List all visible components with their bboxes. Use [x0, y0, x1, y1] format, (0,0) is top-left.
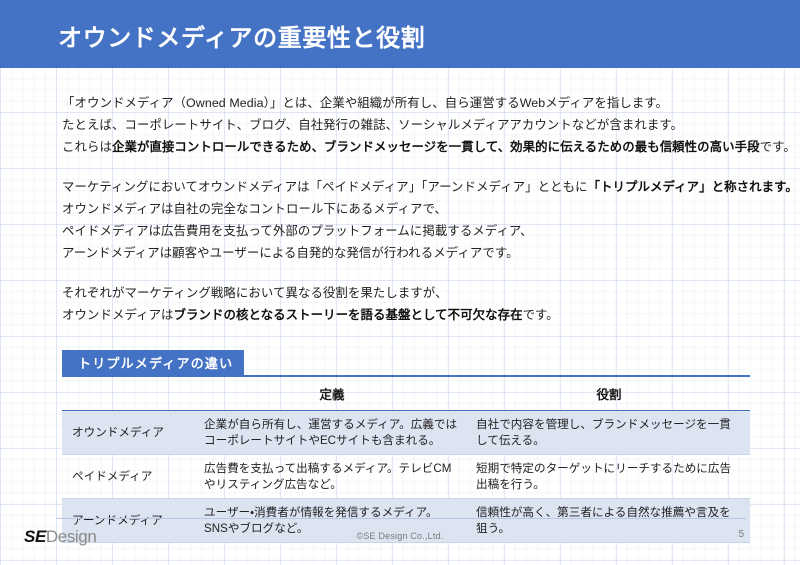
paragraph-line: マーケティングにおいてオウンドメディアは「ペイドメディア」「アーンドメディア」と…	[62, 176, 762, 198]
page-number: 5	[738, 529, 744, 540]
paragraph-line: これらは企業が直接コントロールできるため、ブランドメッセージを一貫して、効果的に…	[62, 136, 762, 158]
emphasis-text: 企業が直接コントロールできるため、ブランドメッセージを一貫して、効果的に伝えるた…	[112, 140, 760, 154]
copyright-notice: ©SE Design Co.,Ltd.	[0, 531, 800, 541]
column-header-definition: 定義	[196, 377, 468, 411]
paragraph-line: それぞれがマーケティング戦略において異なる役割を果たしますが、	[62, 282, 762, 304]
page-title: オウンドメディアの重要性と役割	[58, 18, 425, 53]
plain-text: それぞれがマーケティング戦略において異なる役割を果たしますが、	[62, 286, 448, 300]
paragraph-line: 「オウンドメディア（Owned Media）」とは、企業や組織が所有し、自ら運営…	[62, 92, 762, 114]
paragraph-line: たとえば、コーポレートサイト、ブログ、自社発行の雑誌、ソーシャルメディアアカウン…	[62, 114, 762, 136]
section-label-triple-media: トリプルメディアの違い	[62, 350, 244, 375]
cell-role: 短期で特定のターゲットにリーチするために広告出稿を行う。	[468, 455, 750, 499]
plain-text: マーケティングにおいてオウンドメディアは「ペイドメディア」「アーンドメディア」と…	[62, 180, 588, 194]
table-row: オウンドメディア企業が自ら所有し、運営するメディア。広義ではコーポレートサイトや…	[62, 411, 750, 455]
table-body: オウンドメディア企業が自ら所有し、運営するメディア。広義ではコーポレートサイトや…	[62, 411, 750, 543]
cell-media-type: ペイドメディア	[62, 455, 196, 499]
cell-media-type: オウンドメディア	[62, 411, 196, 455]
body-text-area: 「オウンドメディア（Owned Media）」とは、企業や組織が所有し、自ら運営…	[62, 92, 762, 326]
paragraph-line: オウンドメディアは自社の完全なコントロール下にあるメディアで、	[62, 198, 762, 220]
plain-text: 「オウンドメディア（Owned Media）」とは、企業や組織が所有し、自ら運営…	[62, 96, 668, 110]
paragraph: それぞれがマーケティング戦略において異なる役割を果たしますが、オウンドメディアは…	[62, 282, 762, 326]
cell-role: 自社で内容を管理し、ブランドメッセージを一貫して伝える。	[468, 411, 750, 455]
cell-definition: 企業が自ら所有し、運営するメディア。広義ではコーポレートサイトやECサイトも含ま…	[196, 411, 468, 455]
plain-text: これらは	[62, 140, 112, 154]
plain-text: です。	[523, 308, 559, 322]
plain-text: オウンドメディアは	[62, 308, 174, 322]
emphasis-text: 「トリプルメディア」と称されます。	[588, 180, 798, 194]
slide: オウンドメディアの重要性と役割 「オウンドメディア（Owned Media）」と…	[0, 0, 800, 565]
column-header-blank	[62, 377, 196, 411]
emphasis-text: ブランドの核となるストーリーを語る基盤として不可欠な存在	[174, 308, 523, 322]
footer-divider	[56, 518, 746, 519]
table-header-row: 定義 役割	[62, 377, 750, 411]
paragraph: マーケティングにおいてオウンドメディアは「ペイドメディア」「アーンドメディア」と…	[62, 176, 762, 264]
column-header-role: 役割	[468, 377, 750, 411]
paragraph-line: アーンドメディアは顧客やユーザーによる自発的な発信が行われるメディアです。	[62, 242, 762, 264]
paragraph: 「オウンドメディア（Owned Media）」とは、企業や組織が所有し、自ら運営…	[62, 92, 762, 158]
paragraph-line: ペイドメディアは広告費用を支払って外部のプラットフォームに掲載するメディア、	[62, 220, 762, 242]
paragraph-line: オウンドメディアはブランドの核となるストーリーを語る基盤として不可欠な存在です。	[62, 304, 762, 326]
plain-text: オウンドメディアは自社の完全なコントロール下にあるメディアで、	[62, 202, 447, 216]
table-head: 定義 役割	[62, 377, 750, 411]
cell-definition: 広告費を支払って出稿するメディア。テレビCMやリスティング広告など。	[196, 455, 468, 499]
plain-text: です。	[760, 140, 796, 154]
plain-text: たとえば、コーポレートサイト、ブログ、自社発行の雑誌、ソーシャルメディアアカウン…	[62, 118, 683, 132]
plain-text: ペイドメディアは広告費用を支払って外部のプラットフォームに掲載するメディア、	[62, 224, 533, 238]
table-row: ペイドメディア広告費を支払って出稿するメディア。テレビCMやリスティング広告など…	[62, 455, 750, 499]
plain-text: アーンドメディアは顧客やユーザーによる自発的な発信が行われるメディアです。	[62, 246, 519, 260]
